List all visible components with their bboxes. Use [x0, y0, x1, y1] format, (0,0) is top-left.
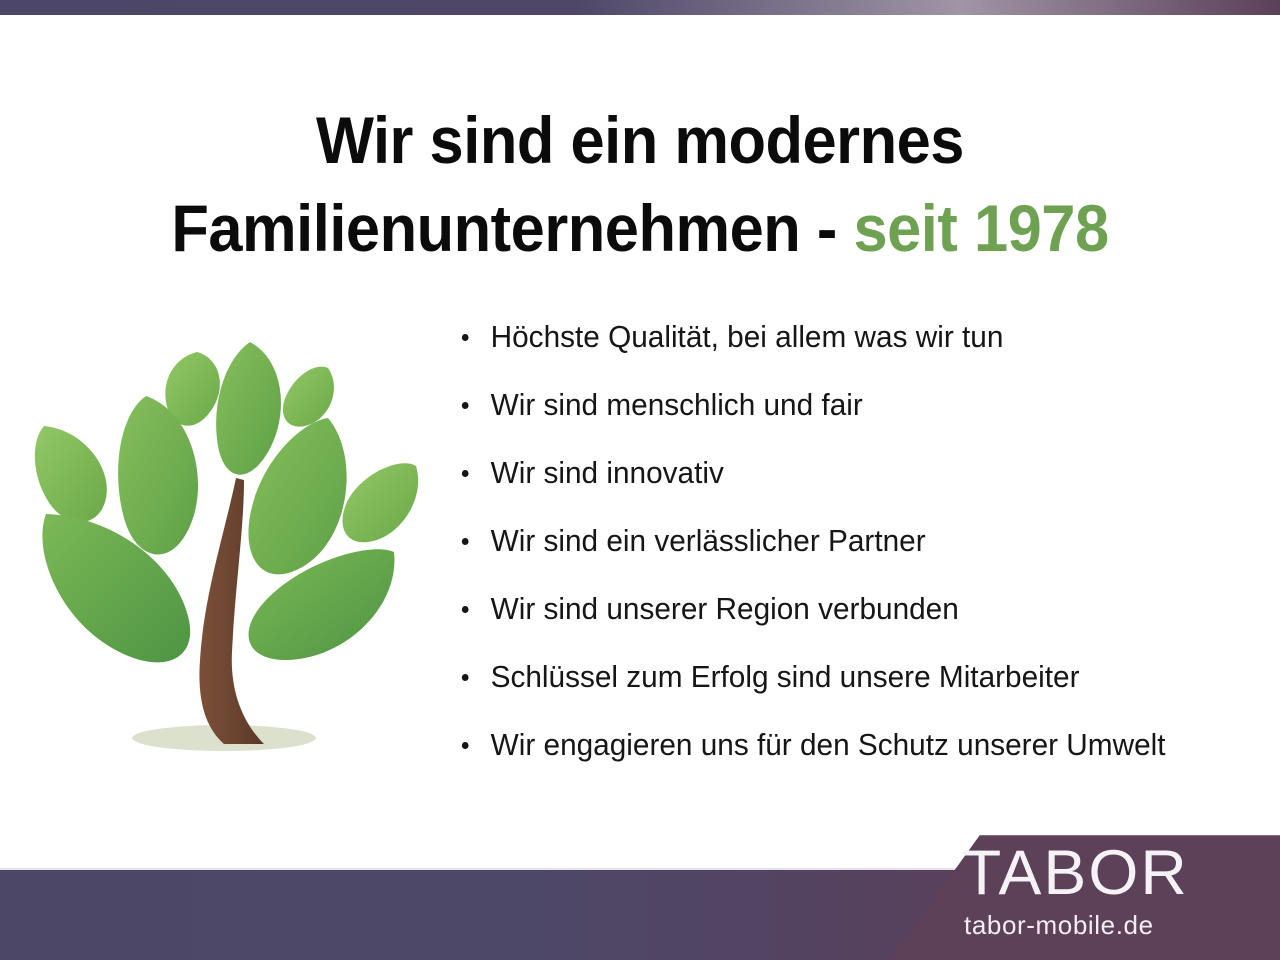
list-item: Wir sind ein verlässlicher Partner: [458, 507, 1236, 575]
list-item-label: Wir sind innovativ: [491, 455, 724, 490]
top-decorative-band: [0, 0, 1280, 15]
list-item: Wir sind menschlich und fair: [458, 371, 1236, 439]
list-item-label: Höchste Qualität, bei allem was wir tun: [491, 319, 1004, 354]
logo-website-url: tabor-mobile.de: [964, 912, 1154, 938]
brand-logo: TABOR tabor-mobile.de: [890, 800, 1280, 960]
bullet-dot-icon: [462, 470, 469, 477]
list-item: Schlüssel zum Erfolg sind unsere Mitarbe…: [458, 643, 1236, 711]
bullet-dot-icon: [462, 674, 469, 681]
list-item-label: Wir engagieren uns für den Schutz unsere…: [491, 727, 1166, 762]
logo-wordmark: TABOR: [962, 842, 1189, 905]
headline-line-1: Wir sind ein modernes: [316, 103, 964, 177]
bullet-dot-icon: [462, 606, 469, 613]
bullet-dot-icon: [462, 334, 469, 341]
slide-canvas: Wir sind ein modernes Familienunternehme…: [0, 0, 1280, 960]
headline-accent-year: seit 1978: [853, 191, 1108, 265]
tree-illustration: [28, 330, 432, 760]
list-item: Wir engagieren uns für den Schutz unsere…: [458, 711, 1236, 779]
headline-line-2: Familienunternehmen - seit 1978: [45, 184, 1235, 272]
tree-leaf-top-small-right: [283, 367, 334, 427]
list-item: Wir sind unserer Region verbunden: [458, 575, 1236, 643]
tree-leaf-top-center: [216, 342, 281, 475]
list-item: Höchste Qualität, bei allem was wir tun: [458, 303, 1236, 371]
list-item-label: Wir sind unserer Region verbunden: [491, 591, 959, 626]
list-item-label: Wir sind menschlich und fair: [491, 387, 863, 422]
headline-line-2-main: Familienunternehmen -: [171, 191, 853, 265]
tree-leaf-far-right: [342, 463, 418, 542]
value-bullet-list: Höchste Qualität, bei allem was wir tun …: [458, 303, 1268, 779]
bullet-dot-icon: [462, 742, 469, 749]
bullet-dot-icon: [462, 402, 469, 409]
list-item: Wir sind innovativ: [458, 439, 1236, 507]
bullet-dot-icon: [462, 538, 469, 545]
tree-leaf-top-small-left: [165, 352, 220, 426]
page-title: Wir sind ein modernes Familienunternehme…: [45, 96, 1235, 272]
list-item-label: Schlüssel zum Erfolg sind unsere Mitarbe…: [491, 659, 1080, 694]
list-item-label: Wir sind ein verlässlicher Partner: [491, 523, 926, 558]
tree-leaf-far-left: [35, 426, 107, 522]
